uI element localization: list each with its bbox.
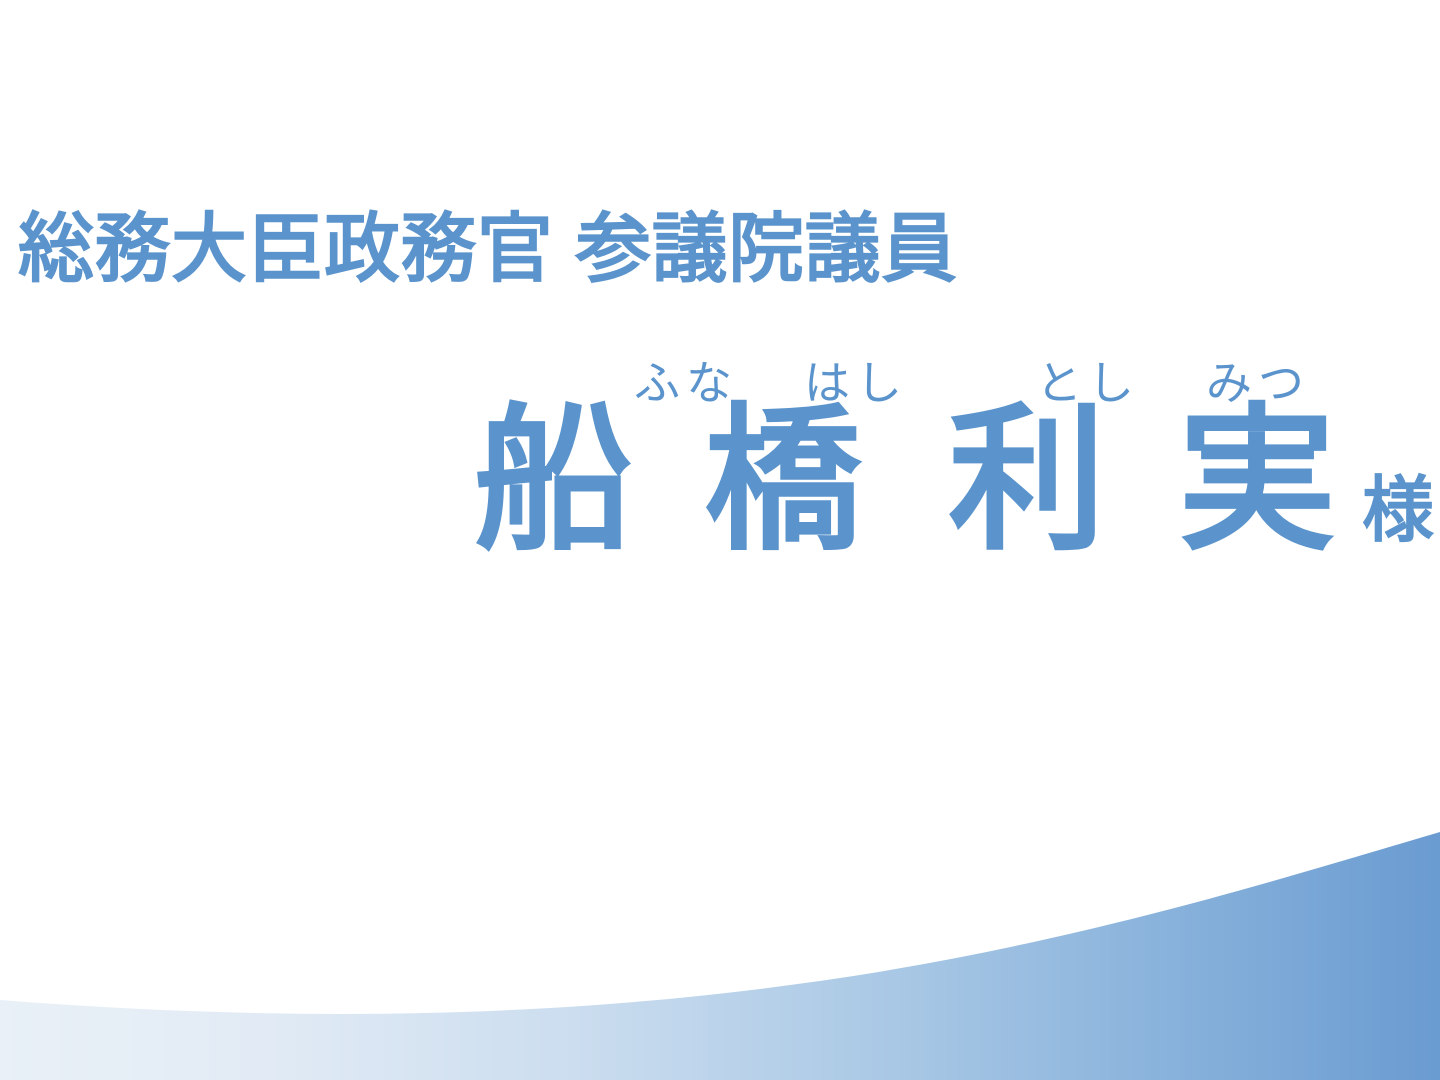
name-row: 船 橋 利 実 様	[0, 402, 1440, 582]
name-surname: 船 橋	[474, 402, 876, 560]
name-plate-slide: 総務大臣政務官 参議院議員 ふな はし とし みつ 船 橋 利 実 様	[0, 0, 1440, 1080]
name-honorific-suffix: 様	[1362, 475, 1434, 547]
wave-path	[0, 832, 1440, 1080]
bottom-wave-svg	[0, 780, 1440, 1080]
page-title: 総務大臣政務官 参議院議員	[18, 200, 1118, 300]
bottom-wave-decoration	[0, 780, 1440, 1080]
name-givenname: 利 実	[948, 402, 1350, 560]
name-block: ふな はし とし みつ 船 橋 利 実 様	[0, 348, 1440, 598]
